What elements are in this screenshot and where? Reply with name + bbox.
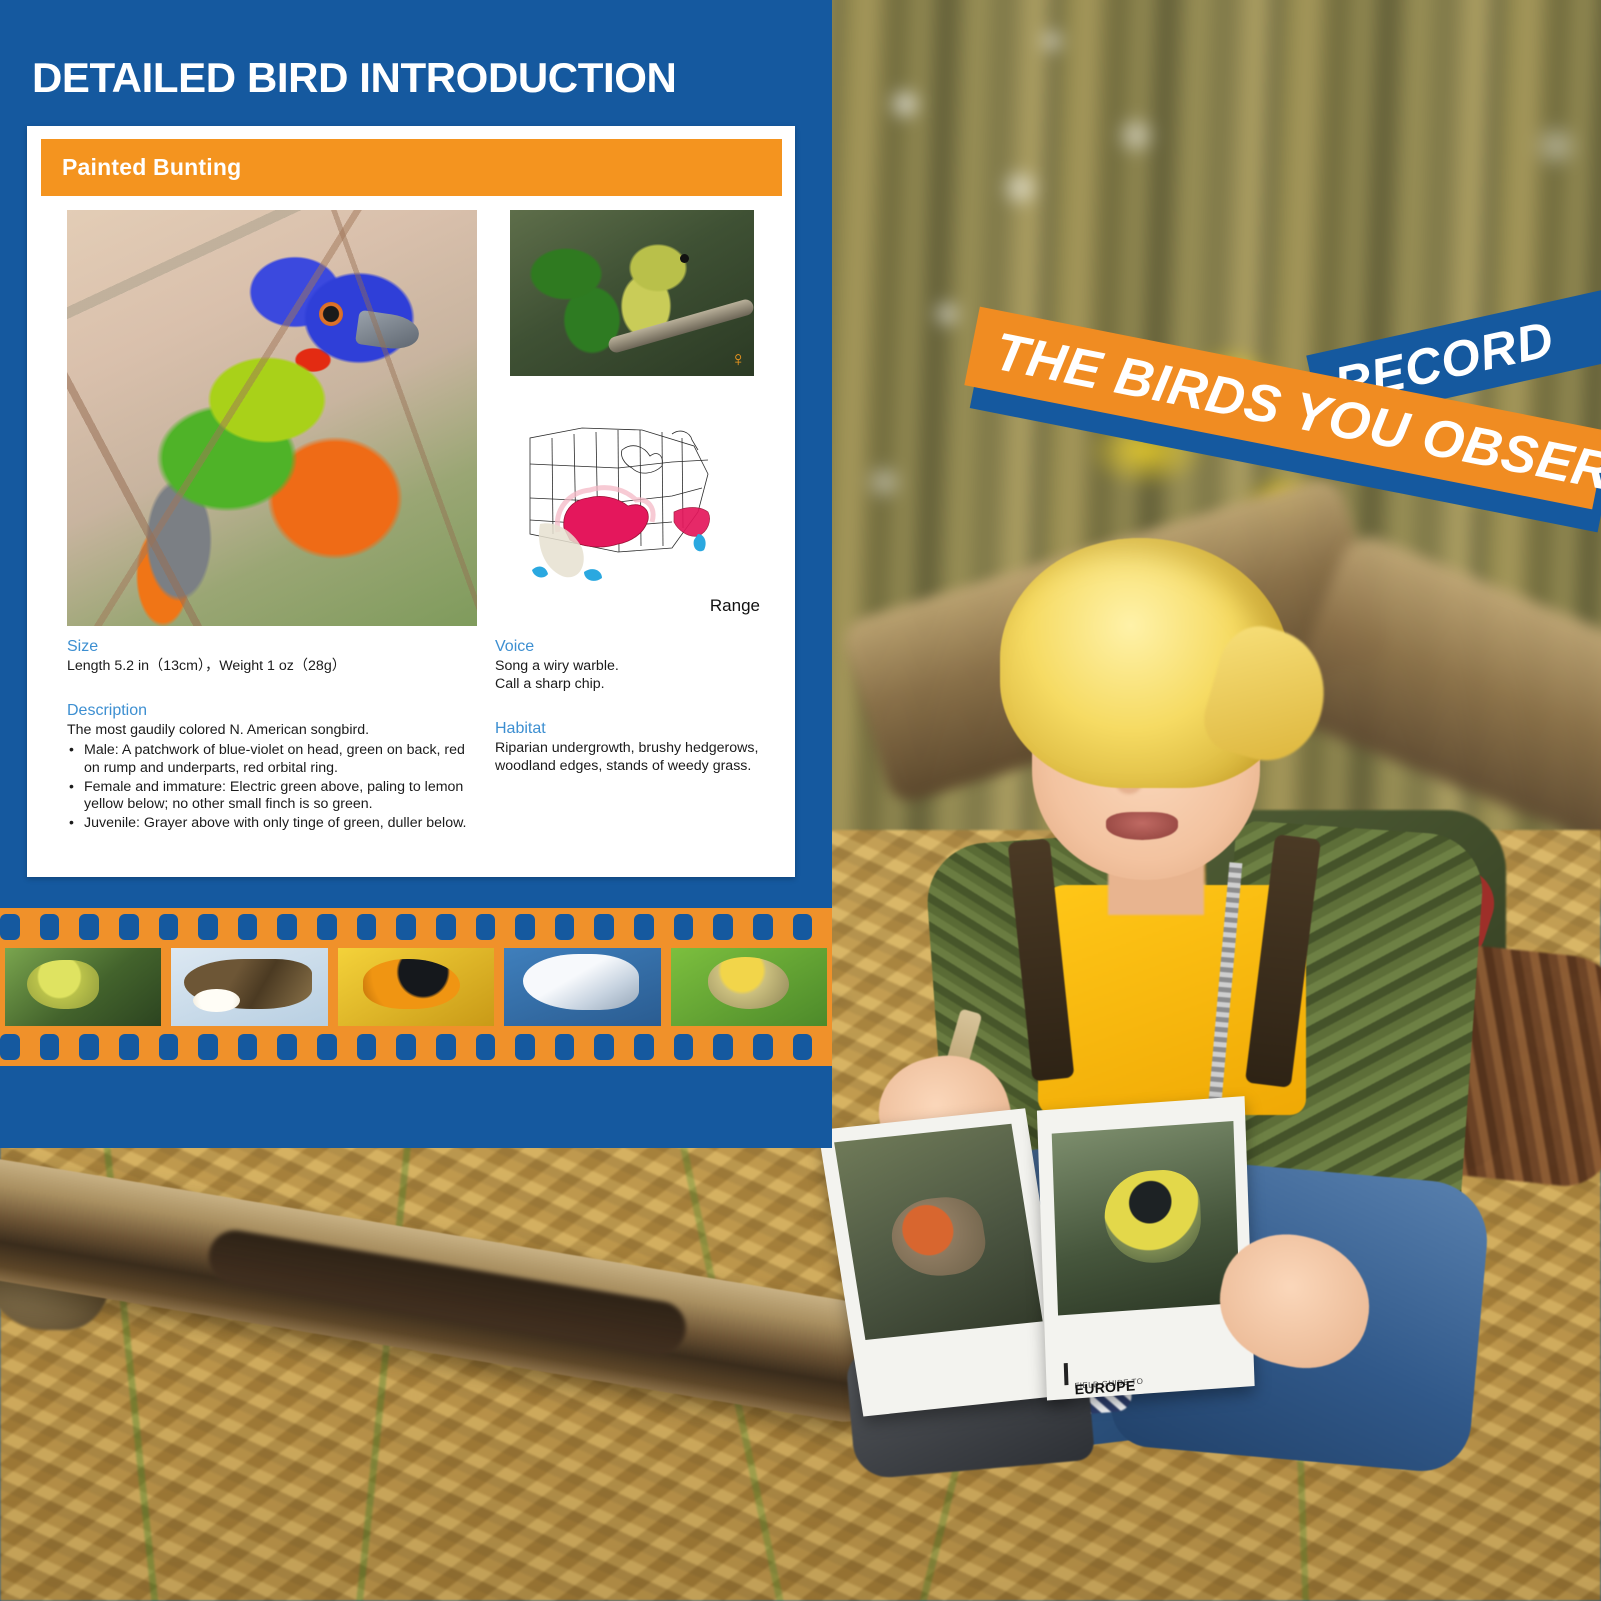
boy-reading-bird-book: FIELD GUIDE TO EUROPE [820, 510, 1601, 1450]
section-heading-voice: Voice [495, 638, 767, 656]
range-map-svg [522, 416, 732, 586]
info-panel: DETAILED BIRD INTRODUCTION Painted Bunti… [0, 0, 832, 1148]
voice-line-2: Call a sharp chip. [495, 676, 767, 694]
book-page-left [818, 1108, 1071, 1416]
list-item: Male: A patchwork of blue-violet on head… [67, 742, 467, 778]
female-symbol-icon: ♀ [730, 349, 746, 370]
book-label-bar [1064, 1363, 1069, 1385]
book-photo-robin [834, 1124, 1043, 1340]
details-column-left: Size Length 5.2 in（13cm），Weight 1 oz（28g… [67, 638, 467, 833]
range-map: Range [510, 416, 762, 616]
species-card-header: Painted Bunting [41, 139, 782, 196]
species-details: Size Length 5.2 in（13cm），Weight 1 oz（28g… [67, 638, 767, 833]
description-text: The most gaudily colored N. American son… [67, 722, 467, 740]
species-name: Painted Bunting [62, 154, 241, 181]
filmstrip-frame-painted-bunting-female [5, 948, 161, 1026]
filmstrip-perforations-bottom [0, 1034, 832, 1060]
robin-illustration [886, 1194, 990, 1281]
book-page-right: FIELD GUIDE TO EUROPE [1037, 1096, 1255, 1400]
range-breeding-east [674, 508, 710, 537]
voice-line-1: Song a wiry warble. [495, 658, 767, 676]
perch-branch [607, 298, 754, 355]
filmstrip-frame-bald-eagle [171, 948, 327, 1026]
range-winter-south [584, 569, 602, 581]
page-title: DETAILED BIRD INTRODUCTION [32, 54, 812, 102]
book-photo-great-tit [1052, 1121, 1240, 1316]
spacer [495, 694, 767, 720]
section-heading-habitat: Habitat [495, 720, 767, 738]
section-heading-size: Size [67, 638, 467, 656]
section-heading-description: Description [67, 702, 467, 720]
list-item: Juvenile: Grayer above with only tinge o… [67, 815, 467, 833]
size-text: Length 5.2 in（13cm），Weight 1 oz（28g） [67, 658, 467, 676]
photo-painted-bunting-female: ♀ [510, 210, 754, 376]
filmstrip-frames [0, 948, 832, 1028]
bird-eye-female [680, 254, 689, 263]
filmstrip-frame-gull [504, 948, 660, 1026]
poster-root: FIELD GUIDE TO EUROPE RECORD THE BIRDS Y… [0, 0, 1601, 1601]
book-title-block: FIELD GUIDE TO EUROPE [1074, 1371, 1234, 1382]
open-field-guide-book: FIELD GUIDE TO EUROPE [830, 1096, 1269, 1415]
habitat-text: Riparian undergrowth, brushy hedgerows, … [495, 740, 767, 776]
details-column-right: Voice Song a wiry warble. Call a sharp c… [495, 638, 767, 833]
range-map-label: Range [710, 596, 760, 616]
filmstrip-frame-oriole-female [671, 948, 827, 1026]
range-winter-mexico [532, 567, 548, 578]
filmstrip-perforations-top [0, 914, 832, 940]
spacer [67, 676, 467, 702]
filmstrip-frame-baltimore-oriole [338, 948, 494, 1026]
list-item: Female and immature: Electric green abov… [67, 779, 467, 815]
mouth [1106, 812, 1178, 840]
species-card: Painted Bunting ♀ [27, 126, 795, 877]
photo-painted-bunting-male [67, 210, 477, 626]
bird-eye [319, 302, 343, 326]
filmstrip [0, 908, 832, 1066]
great-tit-illustration [1103, 1167, 1202, 1266]
bird-beak [355, 310, 421, 352]
description-bullet-list: Male: A patchwork of blue-violet on head… [67, 742, 467, 833]
book-title-large: EUROPE [1074, 1378, 1135, 1397]
